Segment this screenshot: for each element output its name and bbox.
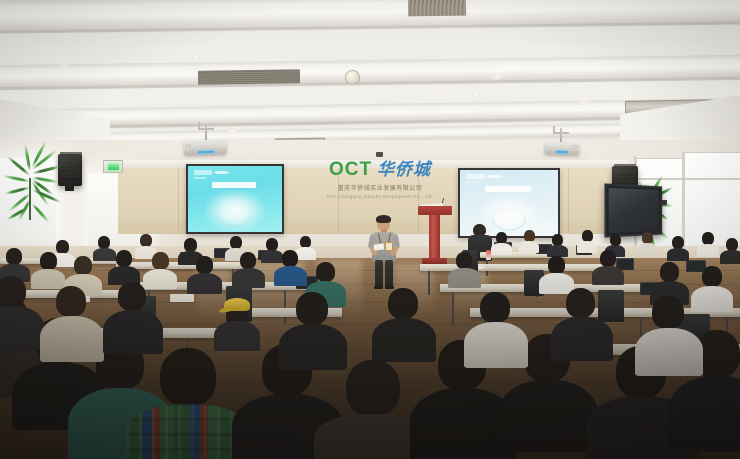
exit-sign-lamp — [108, 164, 119, 170]
papers — [170, 294, 194, 302]
recessed-light — [60, 64, 69, 69]
logo-wordmark: OCT华侨城 — [300, 160, 460, 179]
company-logo: OCT华侨城 重庆华侨城实业发展有限公司 OCT Chongqing Indus… — [300, 160, 460, 199]
window-transom — [630, 178, 740, 180]
left-potted-palm — [2, 158, 64, 238]
recessed-light — [228, 128, 237, 133]
slide-logo-shape — [214, 171, 229, 174]
presenter-handout — [374, 243, 385, 250]
recessed-light — [578, 100, 587, 105]
recessed-light — [438, 88, 447, 93]
lectern-column — [429, 215, 440, 260]
slide-logo-mark — [194, 170, 213, 175]
presenter-hair — [376, 215, 391, 223]
chair — [598, 290, 624, 322]
presenter-shoe-left — [374, 286, 383, 289]
ceiling-air-vent — [198, 69, 300, 85]
table-row — [420, 264, 610, 271]
lectern-top — [418, 206, 452, 215]
ceiling-grille-panel — [408, 0, 466, 16]
wall-mounted-display — [604, 183, 662, 237]
recessed-light — [472, 92, 481, 97]
presenter-badge — [385, 242, 393, 251]
company-name-chinese: 重庆华侨城实业发展有限公司 — [300, 183, 460, 192]
slide-title-bar — [485, 186, 530, 192]
recessed-light — [492, 74, 501, 79]
slide-glow — [205, 190, 265, 231]
emergency-exit-sign-icon — [103, 160, 123, 173]
tv-screen — [609, 188, 659, 233]
presenter — [368, 216, 400, 288]
slide-subtitle-bar — [466, 181, 479, 183]
conference-hall-photo: OCT华侨城 重庆华侨城实业发展有限公司 OCT Chongqing Indus… — [0, 0, 740, 459]
lectern — [418, 206, 452, 268]
recessed-light — [192, 54, 201, 59]
slide-logo-shape — [487, 175, 503, 178]
slide-title-bar — [212, 182, 255, 188]
slide-subtitle-bar — [194, 177, 206, 179]
ceiling — [0, 0, 740, 152]
presenter-leg-left — [375, 260, 383, 288]
slide-logo-mark — [466, 174, 486, 179]
left-screen-surface — [188, 166, 282, 232]
wall-camera-icon — [376, 152, 383, 157]
presenter-shoe-right — [385, 286, 394, 289]
presenter-leg-right — [385, 260, 393, 288]
smoke-detector-icon — [345, 70, 360, 84]
logo-latin-text: OCT — [329, 159, 372, 180]
logo-chinese-text: 华侨城 — [377, 160, 431, 180]
company-name-english: OCT Chongqing Industry Development Co., … — [300, 194, 460, 199]
left-projection-screen — [186, 164, 284, 234]
